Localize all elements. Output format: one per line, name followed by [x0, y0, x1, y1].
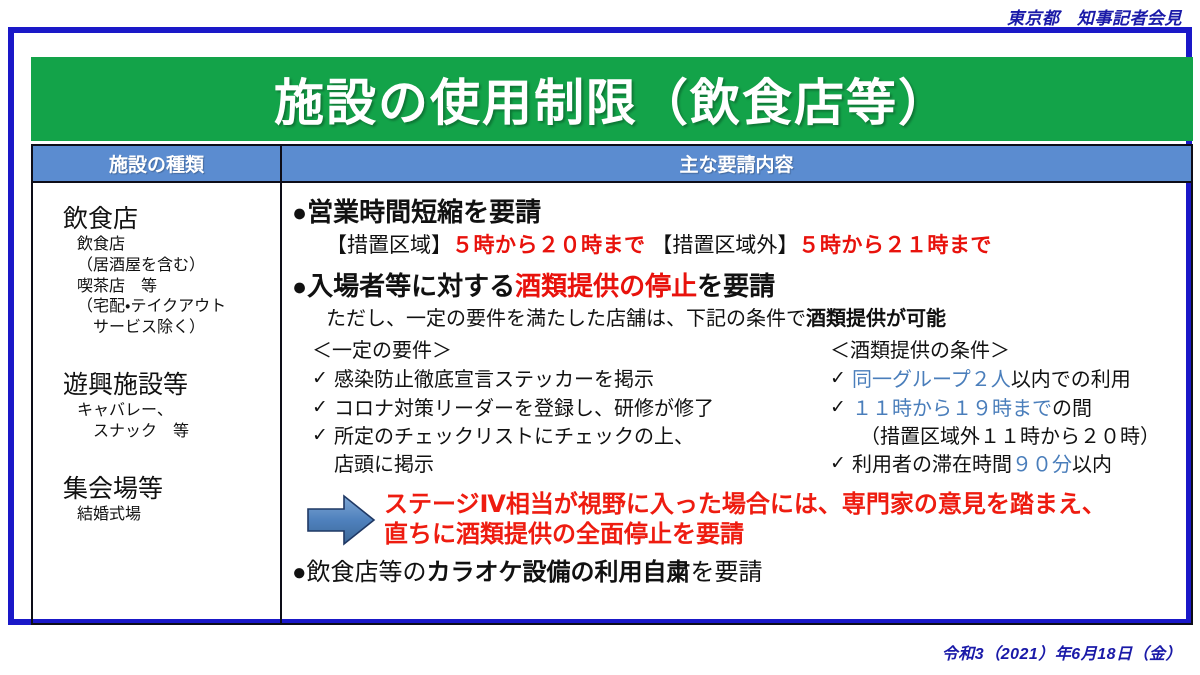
category-entertainment: 遊興施設等 キャバレー、 スナック 等 — [33, 369, 280, 443]
callout-line-2: 直ちに酒類提供の全面停止を要請 — [384, 520, 1106, 550]
slide-frame-inner: 施設の使用制限（飲食店等） 施設の種類 主な要請内容 飲食店 飲食店 （居酒屋を… — [20, 39, 1180, 613]
bullet-lead-text: 入場者等に対する — [307, 271, 515, 301]
bullet-dot-icon: ● — [292, 273, 307, 301]
stage4-callout: ステージⅣ相当が視野に入った場合には、専門家の意見を踏まえ、 直ちに酒類提供の全… — [292, 490, 1181, 550]
check-icon: ✓ — [830, 366, 852, 393]
bullet-rest-text: を要請 — [697, 271, 775, 301]
category-name: 遊興施設等 — [33, 369, 280, 401]
requirement-text: 所定のチェックリストにチェックの上、 — [334, 423, 804, 451]
requirement-text: 感染防止徹底宣言ステッカーを掲示 — [334, 366, 804, 394]
category-sub-line: 飲食店 — [77, 235, 280, 256]
bullet-lead-text: 飲食店等の — [307, 559, 427, 586]
condition-highlight: ９０分 — [1012, 454, 1072, 476]
alcohol-condition-item: ✓ 同一グループ２人以内での利用 — [830, 366, 1181, 394]
condition-rest: 以内 — [1072, 454, 1112, 476]
bullet-karaoke: ●飲食店等のカラオケ設備の利用自粛を要請 — [292, 559, 1181, 588]
spacer — [33, 343, 280, 369]
alcohol-exception-note: ただし、一定の要件を満たした店舗は、下記の条件で酒類提供が可能 — [292, 307, 1181, 332]
requirement-item: ✓ 所定のチェックリストにチェックの上、 — [312, 423, 804, 451]
right-arrow-icon — [306, 492, 376, 548]
bullet-bold-text: 営業時間短縮 — [307, 197, 463, 227]
note-plain-text: ただし、一定の要件を満たした店舗は、下記の条件で — [326, 308, 806, 330]
category-sub-line: （宅配・テイクアウト — [77, 297, 280, 318]
table-header-facility-type: 施設の種類 — [33, 146, 282, 181]
category-restaurants: 飲食店 飲食店 （居酒屋を含む） 喫茶店 等 （宅配・テイクアウト サービス除く… — [33, 203, 280, 339]
requests-table: 施設の種類 主な要請内容 飲食店 飲食店 （居酒屋を含む） 喫茶店 等 （宅配・… — [31, 144, 1193, 625]
alcohol-conditions-column: ＜酒類提供の条件＞ ✓ 同一グループ２人以内での利用 ✓ １１時から１９時までの… — [804, 338, 1181, 480]
alcohol-condition-item: ✓ 利用者の滞在時間９０分以内 — [830, 451, 1181, 479]
outside-area-time: ５時から２１時まで — [798, 234, 992, 257]
conditions-row: ＜一定の要件＞ ✓ 感染防止徹底宣言ステッカーを掲示 ✓ コロナ対策リーダーを登… — [292, 338, 1181, 480]
bullet-rest-text: を要請 — [691, 559, 763, 586]
bullet-rest-text: を要請 — [463, 197, 541, 227]
outside-area-label: 【措置区域外】 — [651, 234, 798, 257]
condition-lead: 利用者の滞在時間 — [852, 454, 1012, 476]
note-bold-text: 酒類提供が可能 — [806, 308, 946, 330]
measure-area-label: 【措置区域】 — [326, 234, 452, 257]
requirement-continuation: 店頭に掲示 — [312, 451, 804, 479]
table-header-main-requests: 主な要請内容 — [282, 146, 1191, 181]
organization-label: 東京都 知事記者会見 — [1007, 4, 1182, 29]
requirements-column: ＜一定の要件＞ ✓ 感染防止徹底宣言ステッカーを掲示 ✓ コロナ対策リーダーを登… — [292, 338, 804, 480]
stage4-callout-text: ステージⅣ相当が視野に入った場合には、専門家の意見を踏まえ、 直ちに酒類提供の全… — [376, 490, 1106, 550]
check-icon: ✓ — [830, 395, 852, 422]
category-sub-line: スナック 等 — [77, 422, 280, 443]
slide-title-bar: 施設の使用制限（飲食店等） — [31, 57, 1193, 141]
bullet-red-text: 酒類提供の停止 — [515, 271, 697, 301]
category-sub-line: 喫茶店 等 — [77, 277, 280, 298]
alcohol-condition-text: １１時から１９時までの間 — [852, 395, 1181, 423]
bullet-alcohol-suspension: ●入場者等に対する酒類提供の停止を要請 — [292, 271, 1181, 302]
category-sub-line: サービス除く） — [77, 318, 280, 339]
requirement-text: コロナ対策リーダーを登録し、研修が修了 — [334, 395, 804, 423]
category-sub-line: （居酒屋を含む） — [77, 256, 280, 277]
check-icon: ✓ — [312, 423, 334, 450]
spacer — [33, 447, 280, 473]
category-name: 飲食店 — [33, 203, 280, 235]
table-body: 飲食店 飲食店 （居酒屋を含む） 喫茶店 等 （宅配・テイクアウト サービス除く… — [33, 183, 1191, 623]
bullet-dot-icon: ● — [292, 199, 307, 227]
alcohol-conditions-title: ＜酒類提供の条件＞ — [830, 338, 1181, 364]
main-requests-column: ●営業時間短縮を要請 【措置区域】５時から２０時まで 【措置区域外】５時から２１… — [282, 183, 1191, 623]
check-icon: ✓ — [312, 366, 334, 393]
check-icon: ✓ — [830, 451, 852, 478]
bullet-shorter-hours: ●営業時間短縮を要請 — [292, 197, 1181, 228]
page-title: 施設の使用制限（飲食店等） — [274, 63, 950, 135]
table-header-row: 施設の種類 主な要請内容 — [33, 146, 1191, 183]
presentation-date: 令和3（2021）年6月18日（金） — [942, 640, 1182, 664]
bullet-bold-text: カラオケ設備の利用自粛 — [427, 559, 691, 586]
alcohol-condition-text: 利用者の滞在時間９０分以内 — [852, 451, 1181, 479]
condition-highlight: １１時から１９時まで — [852, 398, 1052, 420]
category-sub-lines: キャバレー、 スナック 等 — [33, 401, 280, 443]
requirement-item: ✓ 感染防止徹底宣言ステッカーを掲示 — [312, 366, 804, 394]
bullet-dot-icon: ● — [292, 559, 307, 586]
category-sub-line: 結婚式場 — [77, 505, 280, 526]
requirement-item: ✓ コロナ対策リーダーを登録し、研修が修了 — [312, 395, 804, 423]
requirements-title: ＜一定の要件＞ — [312, 338, 804, 364]
facility-type-column: 飲食店 飲食店 （居酒屋を含む） 喫茶店 等 （宅配・テイクアウト サービス除く… — [33, 183, 282, 623]
alcohol-condition-note: （措置区域外１１時から２０時） — [830, 423, 1181, 451]
slide-frame: 施設の使用制限（飲食店等） 施設の種類 主な要請内容 飲食店 飲食店 （居酒屋を… — [8, 27, 1192, 625]
category-sub-lines: 結婚式場 — [33, 505, 280, 526]
category-assembly-halls: 集会場等 結婚式場 — [33, 473, 280, 526]
check-icon: ✓ — [312, 395, 334, 422]
callout-line-1: ステージⅣ相当が視野に入った場合には、専門家の意見を踏まえ、 — [384, 490, 1106, 520]
measure-area-time: ５時から２０時まで — [452, 234, 646, 257]
condition-highlight: 同一グループ２人 — [852, 369, 1011, 391]
category-sub-line: キャバレー、 — [77, 401, 280, 422]
category-sub-lines: 飲食店 （居酒屋を含む） 喫茶店 等 （宅配・テイクアウト サービス除く） — [33, 235, 280, 339]
category-name: 集会場等 — [33, 473, 280, 505]
alcohol-condition-item: ✓ １１時から１９時までの間 — [830, 395, 1181, 423]
hours-detail-line: 【措置区域】５時から２０時まで 【措置区域外】５時から２１時まで — [292, 233, 1181, 259]
condition-rest: の間 — [1052, 398, 1092, 420]
condition-rest: 以内での利用 — [1011, 369, 1131, 391]
alcohol-condition-text: 同一グループ２人以内での利用 — [852, 366, 1181, 394]
